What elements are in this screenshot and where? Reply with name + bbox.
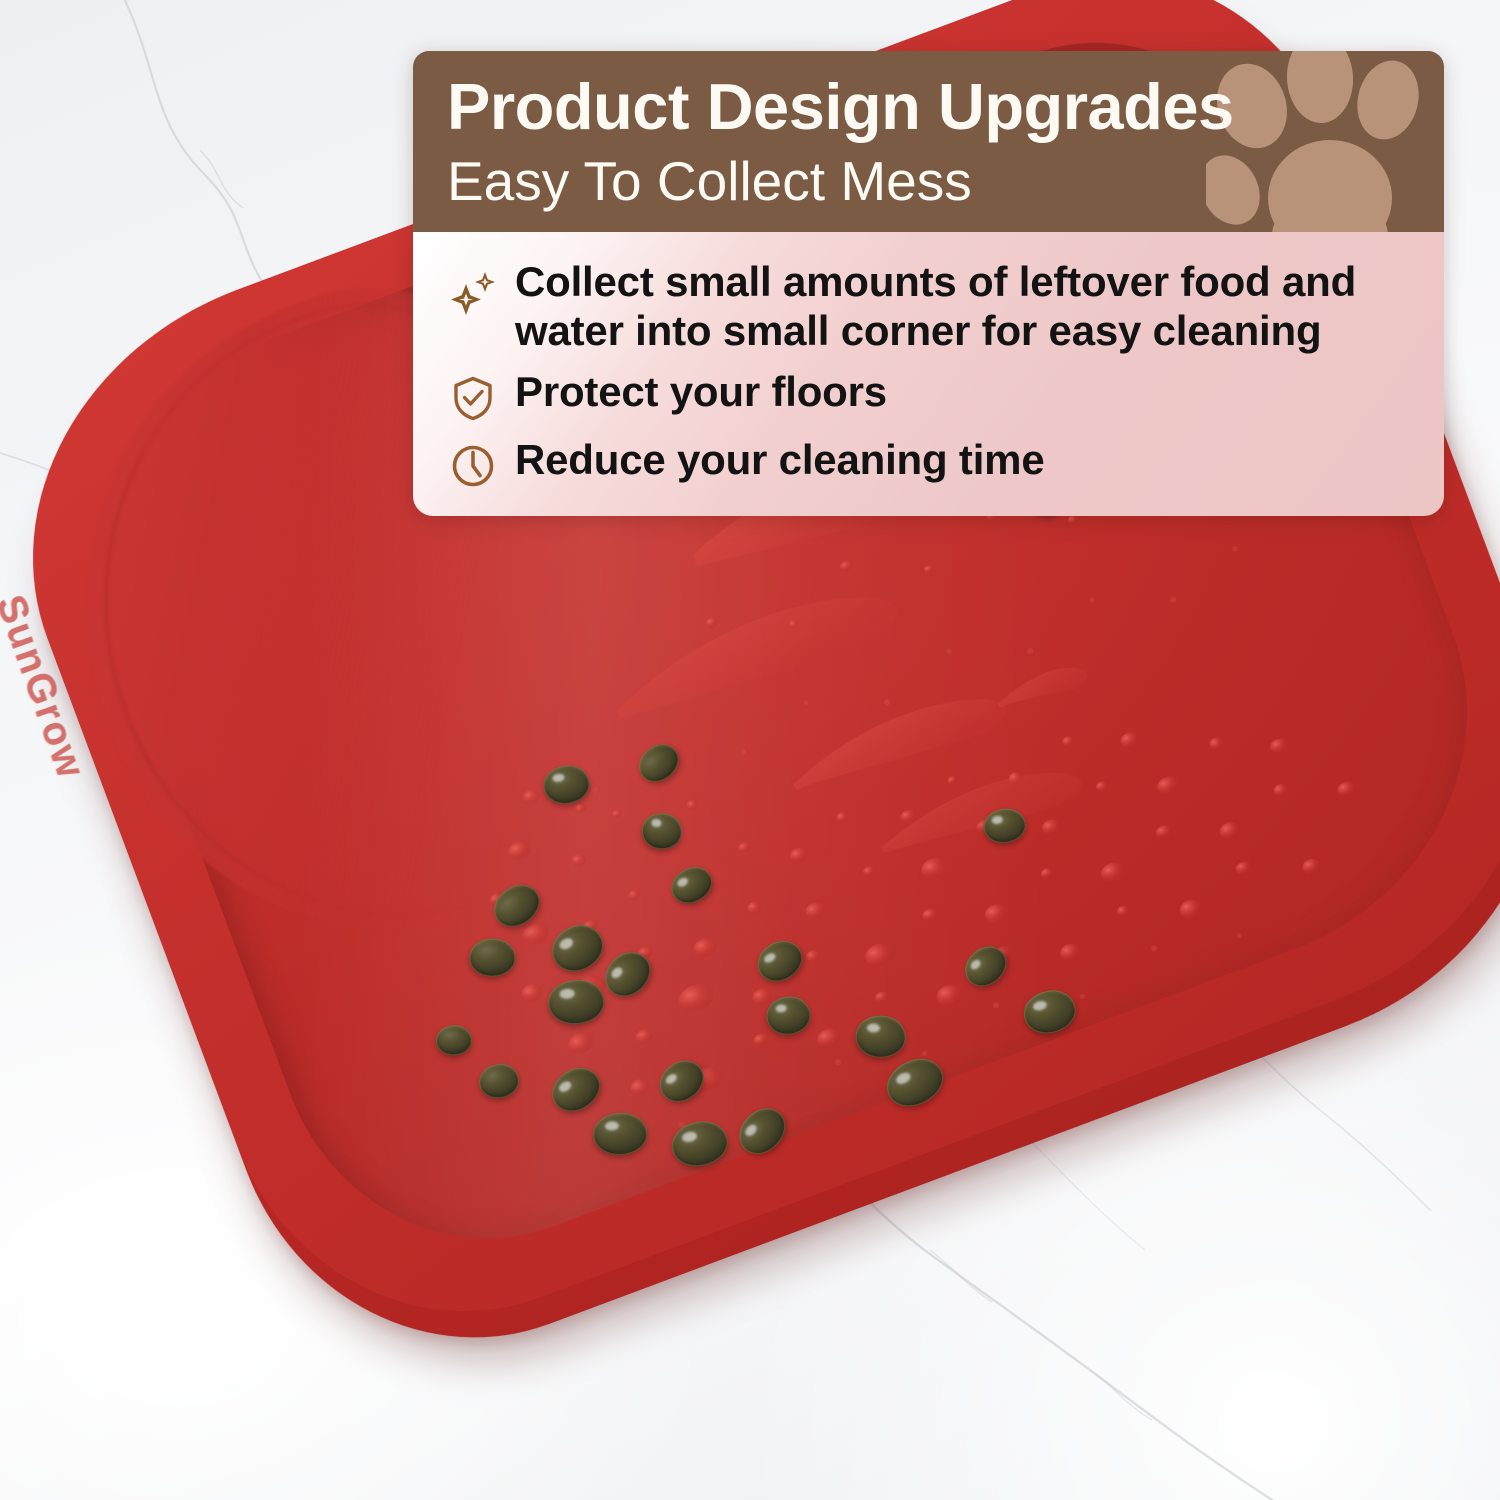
shield-check-icon — [447, 372, 499, 424]
card-body: Collect small amounts of leftover food a… — [413, 232, 1444, 515]
card-title: Product Design Upgrades — [447, 73, 1410, 141]
kibble-piece — [469, 938, 515, 976]
feature-bullet: Collect small amounts of leftover food a… — [447, 258, 1414, 355]
feature-bullet-label: Reduce your cleaning time — [515, 436, 1044, 485]
feature-bullet-label: Protect your floors — [515, 368, 887, 417]
card-subtitle: Easy To Collect Mess — [447, 151, 1410, 213]
sparkle-icon — [447, 268, 499, 320]
feature-bullet-label: Collect small amounts of leftover food a… — [515, 258, 1414, 355]
feature-bullet: Reduce your cleaning time — [447, 436, 1414, 492]
card-header: Product Design Upgrades Easy To Collect … — [413, 51, 1444, 232]
feature-callout-card: Product Design Upgrades Easy To Collect … — [413, 51, 1444, 516]
feature-bullet: Protect your floors — [447, 368, 1414, 424]
clock-icon — [447, 440, 499, 492]
